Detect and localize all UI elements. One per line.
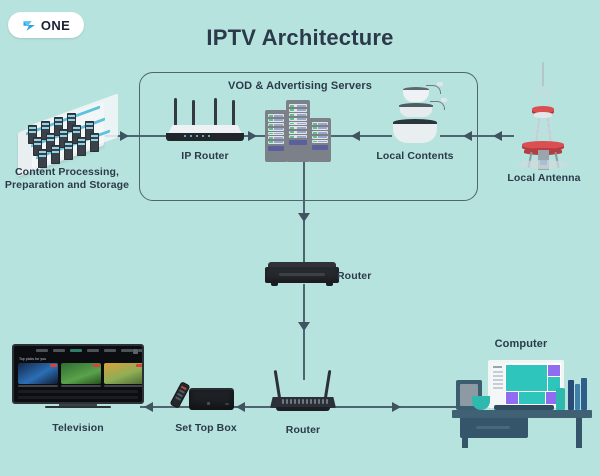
page-title: IPTV Architecture bbox=[0, 25, 600, 51]
set-top-router-icon bbox=[265, 262, 339, 286]
set-top-box-icon bbox=[175, 382, 235, 414]
label-router-bottom: Router bbox=[273, 424, 333, 437]
link-router-mid-to-router-bottom bbox=[303, 284, 305, 380]
label-content-processing-line1: Content Processing, bbox=[4, 166, 130, 179]
label-vod-servers: VOD & Advertising Servers bbox=[210, 80, 390, 94]
tv-screen: Top picks for you bbox=[14, 346, 142, 402]
arrow-down-router-mid-to-router-bottom bbox=[298, 322, 310, 331]
arrow-down-core-to-router-mid bbox=[298, 213, 310, 222]
remote-control-icon bbox=[169, 381, 190, 409]
tv-card bbox=[18, 363, 58, 384]
wifi-router-bottom-icon bbox=[270, 370, 336, 414]
label-content-processing: Content Processing, Preparation and Stor… bbox=[4, 166, 130, 192]
server-rack-icon bbox=[265, 100, 333, 162]
tv-card bbox=[104, 363, 142, 384]
label-router-mid: Router bbox=[337, 270, 397, 283]
label-set-top-box: Set Top Box bbox=[160, 422, 252, 435]
tv-card bbox=[61, 363, 101, 384]
diagram-canvas: ONE IPTV Architecture bbox=[0, 0, 600, 476]
arrow-left-antenna-to-localcontents bbox=[463, 131, 472, 141]
arrow-right-content-to-core bbox=[120, 131, 129, 141]
link-localcontents-to-servers bbox=[330, 135, 392, 137]
tv-profile-icon bbox=[133, 349, 138, 354]
arrow-left-stb-to-tv bbox=[144, 402, 153, 412]
desktop-computer-icon bbox=[452, 350, 592, 450]
tv-nav bbox=[36, 349, 142, 352]
label-local-antenna: Local Antenna bbox=[492, 172, 596, 185]
stacked-disks-icon bbox=[385, 85, 445, 147]
broadcast-tower-icon bbox=[515, 62, 571, 172]
arrow-left-antenna-edge bbox=[493, 131, 502, 141]
label-ip-router: IP Router bbox=[155, 150, 255, 163]
label-television: Television bbox=[18, 422, 138, 435]
arrow-right-router-to-computer bbox=[392, 402, 401, 412]
datacenter-isometric-icon bbox=[12, 97, 120, 165]
arrow-left-router-to-stb bbox=[236, 402, 245, 412]
label-content-processing-line2: Preparation and Storage bbox=[4, 179, 130, 192]
arrow-left-localcontents-to-servers bbox=[351, 131, 360, 141]
tv-card-row bbox=[18, 363, 142, 384]
wifi-router-icon bbox=[160, 98, 250, 144]
tv-heading: Top picks for you bbox=[19, 357, 46, 361]
label-local-contents: Local Contents bbox=[360, 150, 470, 163]
link-antenna-to-localcontents bbox=[440, 135, 514, 137]
tv-icon: Top picks for you bbox=[12, 344, 144, 410]
link-servers-to-router-mid bbox=[303, 160, 305, 264]
